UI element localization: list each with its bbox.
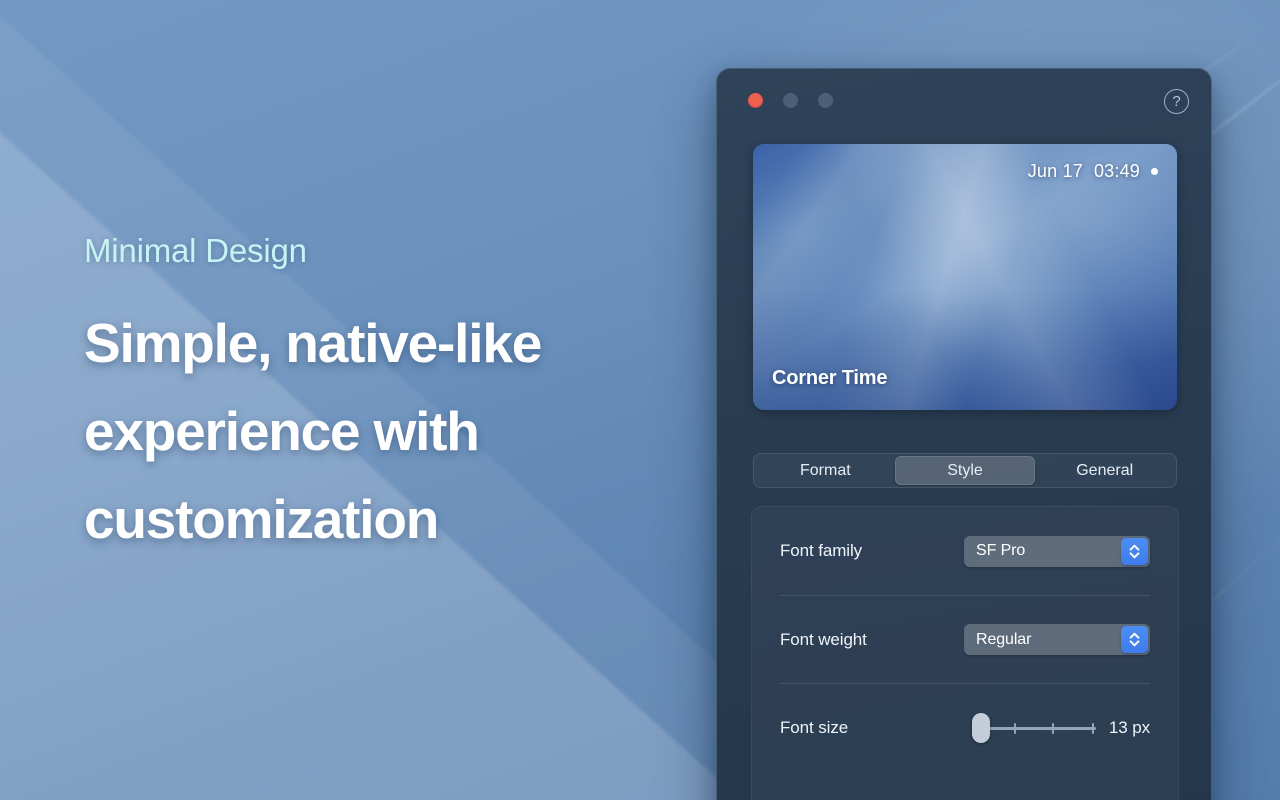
slider-tick (1092, 723, 1094, 734)
help-icon[interactable]: ? (1164, 89, 1189, 114)
close-button[interactable] (748, 93, 763, 108)
font-weight-control: Regular (964, 624, 1150, 655)
tab-general[interactable]: General (1035, 456, 1174, 485)
corner-clock-overlay: Jun 17 03:49 (1028, 161, 1158, 182)
font-family-value: SF Pro (964, 542, 1025, 560)
slider-tick (1052, 723, 1054, 734)
row-font-size: Font size 13 px (780, 683, 1150, 771)
settings-tab-bar: Format Style General (753, 453, 1177, 488)
slider-tick (1014, 723, 1016, 734)
tab-style[interactable]: Style (895, 456, 1036, 485)
clock-time: 03:49 (1094, 161, 1140, 182)
headline-line-2: experience with (84, 387, 684, 475)
chevron-up-down-icon[interactable] (1121, 626, 1148, 653)
marketing-copy: Minimal Design Simple, native-like exper… (84, 232, 684, 563)
eyebrow-text: Minimal Design (84, 232, 684, 270)
font-size-slider[interactable] (972, 717, 1096, 739)
app-window: ? Jun 17 03:49 Corner Time Format Style … (716, 68, 1212, 800)
zoom-button[interactable] (818, 93, 833, 108)
font-family-label: Font family (780, 541, 862, 561)
font-family-popup-button[interactable]: SF Pro (964, 536, 1150, 567)
chevron-up-down-icon[interactable] (1121, 538, 1148, 565)
font-family-control: SF Pro (964, 536, 1150, 567)
headline: Simple, native-like experience with cust… (84, 299, 684, 563)
window-titlebar[interactable]: ? (717, 69, 1211, 133)
row-font-weight: Font weight Regular (780, 595, 1150, 683)
font-size-label: Font size (780, 718, 848, 738)
font-size-value: 13 px (1109, 718, 1150, 738)
font-weight-label: Font weight (780, 630, 867, 650)
settings-panel: Font family SF Pro Font weight (751, 506, 1179, 800)
font-weight-value: Regular (964, 631, 1031, 649)
app-name-label: Corner Time (772, 367, 887, 390)
headline-line-3: customization (84, 475, 684, 563)
minimize-button[interactable] (783, 93, 798, 108)
clock-indicator-dot (1151, 168, 1158, 175)
traffic-lights (748, 93, 833, 108)
font-size-control: 13 px (972, 717, 1150, 739)
wallpaper-preview-card[interactable]: Jun 17 03:49 Corner Time (753, 144, 1177, 410)
clock-date: Jun 17 (1028, 161, 1083, 182)
font-weight-popup-button[interactable]: Regular (964, 624, 1150, 655)
slider-track (982, 727, 1096, 730)
row-font-family: Font family SF Pro (780, 507, 1150, 595)
headline-line-1: Simple, native-like (84, 299, 684, 387)
slider-knob[interactable] (972, 713, 990, 743)
screenshot-stage: Minimal Design Simple, native-like exper… (0, 0, 1280, 800)
tab-format[interactable]: Format (756, 456, 895, 485)
